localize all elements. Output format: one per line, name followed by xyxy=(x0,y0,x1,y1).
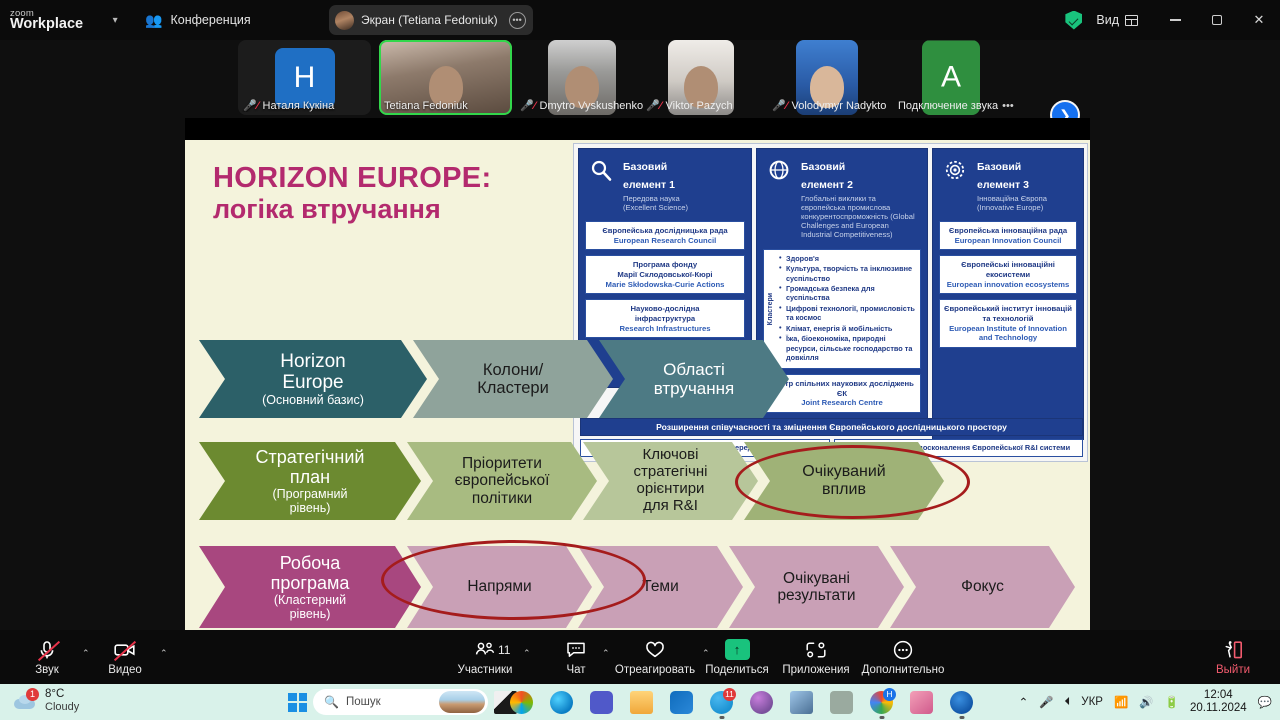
participant-thumbnail[interactable]: H 🎤⁄ Наталя Кукіна xyxy=(238,40,371,115)
teams-icon[interactable] xyxy=(590,691,613,714)
chat-label: Чат xyxy=(566,664,585,676)
telegram-icon[interactable]: 11 xyxy=(710,691,733,714)
box-en: Joint Research Centre xyxy=(767,398,917,408)
box-en: European Innovation Council xyxy=(943,236,1073,246)
participants-label: Участники xyxy=(458,664,513,676)
magnifier-icon xyxy=(586,157,616,212)
cluster-item: Громадська безпека для суспільства xyxy=(779,284,915,303)
taskbar-center: 🔍 Пошук xyxy=(288,684,517,720)
annotation-ellipse-destinations xyxy=(381,540,646,620)
chatgpt-icon[interactable] xyxy=(830,691,853,714)
pillar-2-title: Базовий елемент 2 xyxy=(801,161,853,191)
camera-muted-icon xyxy=(114,639,136,661)
pillar-3-header: Базовий елемент 3 Інноваційна Європа (In… xyxy=(933,149,1083,216)
windows-taskbar: 1 8°C Cloudy 🔍 Пошук 11 xyxy=(0,684,1280,720)
cloud-icon: 1 xyxy=(12,690,38,712)
box-en: Research Infrastructures xyxy=(589,324,741,334)
participant-name-row: 🎤⁄ Наталя Кукіна xyxy=(238,99,371,112)
chevron-key-strategic-orientations: Ключові стратегічні орієнтири для R&I xyxy=(583,442,758,520)
muted-mic-icon: 🎤⁄ xyxy=(520,99,536,112)
more-label: Дополнительно xyxy=(862,664,945,676)
weather-widget[interactable]: 1 8°C Cloudy xyxy=(12,688,79,714)
gear-innovation-icon xyxy=(940,157,970,212)
zoom-logo: zoom Workplace xyxy=(10,9,83,32)
battery-icon[interactable]: 🔋 xyxy=(1165,695,1179,709)
chevron-scope: Фокус xyxy=(890,546,1075,628)
box-en: European Research Council xyxy=(589,236,741,246)
participants-icon xyxy=(474,639,496,661)
meeting-toolbar: Звук ⌃ Видео ⌃ Участники 11 ⌃ Чат ⌃ xyxy=(0,630,1280,684)
search-icon: 🔍 xyxy=(324,695,339,709)
pillar-2-clusters: Кластери Здоров'я Культура, творчість та… xyxy=(763,249,921,369)
close-button[interactable]: ✕ xyxy=(1238,0,1280,40)
chevron-strategic-plan: Стратегічний план (Програмний рівень) xyxy=(199,442,421,520)
participant-name-row: Tetiana Fedoniuk xyxy=(379,100,512,112)
view-label: Вид xyxy=(1096,13,1119,27)
presentation-slide: HORIZON EUROPE: логіка втручання Базовий… xyxy=(185,140,1090,630)
zoom-taskbar-icon[interactable] xyxy=(950,691,973,714)
participant-thumbnail-active[interactable]: Tetiana Fedoniuk xyxy=(379,40,512,115)
more-dots-icon xyxy=(892,639,914,661)
minimize-button[interactable] xyxy=(1154,0,1196,40)
chevron-label: Фокус xyxy=(961,578,1004,595)
search-placeholder: Пошук xyxy=(346,696,381,708)
pillar-2-subtitle: Глобальні виклики та європейська промисл… xyxy=(801,194,920,240)
share-button[interactable]: ↑ Поделиться xyxy=(700,630,774,684)
slide-title-line2: логіка втручання xyxy=(213,194,491,224)
cluster-item: Клімат, енергія й мобільність xyxy=(779,324,915,333)
more-options-icon[interactable]: ••• xyxy=(1002,100,1014,112)
window-controls-group: Вид ✕ xyxy=(1065,0,1280,40)
participant-name: Tetiana Fedoniuk xyxy=(384,100,468,112)
box-ua: Європейський інститут інновацій та техно… xyxy=(943,304,1073,323)
chevron-label: Стратегічний план xyxy=(256,447,365,487)
pillar-1-box: Європейська дослідницька рада European R… xyxy=(585,221,745,250)
mic-tray-icon[interactable]: 🎤 xyxy=(1039,695,1053,709)
volume-icon[interactable]: 🔊 xyxy=(1139,695,1153,709)
box-ua: Програма фонду Марії Склодовської-Кюрі xyxy=(589,260,741,279)
more-button[interactable]: Дополнительно xyxy=(858,630,948,684)
chevron-label: Колони/ Кластери xyxy=(477,361,549,398)
edge-icon[interactable] xyxy=(550,691,573,714)
pillar-1-header: Базовий елемент 1 Передова наука (Excell… xyxy=(579,149,751,216)
system-tray: ⌃ 🎤 ⏴ УКР 📶 🔊 🔋 12:04 20.11.2024 💬 xyxy=(1019,684,1272,720)
participants-caret-icon[interactable]: ⌃ xyxy=(523,648,531,659)
cluster-item: Цифрові технології, промисловість та кос… xyxy=(779,304,915,323)
pillar-1-box: Науково-дослідна інфраструктура Research… xyxy=(585,299,745,338)
pillar-1-title: Базовий елемент 1 xyxy=(623,161,675,191)
page-title: HORIZON EUROPE: логіка втручання xyxy=(213,162,491,225)
maximize-button[interactable] xyxy=(1196,0,1238,40)
participant-name-row: 🎤⁄ Dmytro Vyskushenko xyxy=(520,99,643,112)
chevron-down-icon[interactable]: ▾ xyxy=(105,10,125,30)
muted-mic-icon: 🎤⁄ xyxy=(772,99,788,112)
pillar-3-subtitle: Інноваційна Європа (Innovative Europe) xyxy=(977,194,1047,212)
video-options-caret-icon[interactable]: ⌃ xyxy=(160,648,168,659)
zoom-meeting-window: zoom Workplace ▾ 👥 Конференция Экран (Te… xyxy=(0,0,1280,720)
chevron-horizon-europe: Horizon Europe (Основний базис) xyxy=(199,340,427,418)
participant-thumbnail[interactable]: 🎤⁄ Volodymyr Nadykto xyxy=(772,40,890,115)
notification-center-icon[interactable]: 💬 xyxy=(1258,695,1272,709)
chevron-label: Області втручання xyxy=(654,360,735,398)
telegram-badge: 11 xyxy=(723,688,736,701)
chevron-label: Очікувані результати xyxy=(777,570,855,605)
pillar-3-title: Базовий елемент 3 xyxy=(977,161,1029,191)
grid-view-icon xyxy=(1125,15,1138,26)
pillar-1-subtitle: Передова наука (Excellent Science) xyxy=(623,194,688,212)
zoom-brand-line2: Workplace xyxy=(10,17,83,32)
leave-button[interactable]: Выйти xyxy=(1205,630,1261,684)
box-en: European innovation ecosystems xyxy=(943,280,1073,290)
chevron-label: Ключові стратегічні орієнтири для R&I xyxy=(633,447,707,514)
pillar-3-box: Європейська інноваційна рада European In… xyxy=(939,221,1077,250)
language-indicator[interactable]: УКР xyxy=(1081,696,1103,708)
chevron-label: Horizon Europe xyxy=(280,351,345,394)
pillar-3-box: Європейський інститут інновацій та техно… xyxy=(939,299,1077,348)
globe-icon xyxy=(764,157,794,240)
pillar-3: Базовий елемент 3 Інноваційна Європа (In… xyxy=(932,148,1084,440)
chrome-badge: H xyxy=(883,688,896,701)
search-illustration xyxy=(439,691,485,713)
pillar-1-box: Програма фонду Марії Склодовської-Кюрі M… xyxy=(585,255,745,294)
audio-options-caret-icon[interactable]: ⌃ xyxy=(82,648,90,659)
chevron-intervention-areas: Області втручання xyxy=(599,340,789,418)
viber-icon[interactable] xyxy=(750,691,773,714)
meeting-tab-label: Конференция xyxy=(171,13,251,27)
participant-name: Viktor Pazych xyxy=(666,100,733,112)
box-en: European Institute of Innovation and Tec… xyxy=(943,324,1073,343)
react-button[interactable]: Отреагировать xyxy=(612,630,698,684)
video-button[interactable]: Видео xyxy=(96,630,154,684)
box-ua: Європейська інноваційна рада xyxy=(943,226,1073,236)
muted-mic-icon: 🎤⁄ xyxy=(646,99,662,112)
chat-icon xyxy=(566,639,586,661)
shared-screen-stage: HORIZON EUROPE: логіка втручання Базовий… xyxy=(185,118,1090,630)
security-shield-icon[interactable] xyxy=(1065,11,1082,30)
share-screen-icon: ↑ xyxy=(725,639,750,661)
clusters-list: Здоров'я Культура, творчість та інклюзив… xyxy=(778,254,917,364)
chat-button[interactable]: Чат xyxy=(551,630,601,684)
participant-thumbnail[interactable]: 🎤⁄ Dmytro Vyskushenko xyxy=(520,40,638,115)
weather-temperature: 8°C xyxy=(45,688,79,701)
box-en: Marie Skłodowska-Curie Actions xyxy=(589,280,741,290)
chevron-sub: (Основний базис) xyxy=(262,393,364,407)
chevron-expected-outcomes: Очікувані результати xyxy=(729,546,904,628)
file-explorer-icon[interactable] xyxy=(630,691,653,714)
wifi-icon[interactable]: 📶 xyxy=(1114,695,1128,709)
participant-name-row: 🎤⁄ Viktor Pazych xyxy=(646,99,733,112)
chevron-label: Пріоритети європейської політики xyxy=(455,455,550,507)
chevron-sub: (Кластерний рівень) xyxy=(274,593,346,621)
apps-button[interactable]: Приложения xyxy=(778,630,854,684)
video-label: Видео xyxy=(108,664,142,676)
widening-banner: Розширення співучасності та зміцнення Єв… xyxy=(580,418,1083,436)
chat-caret-icon[interactable]: ⌃ xyxy=(602,648,610,659)
meeting-tab[interactable]: 👥 Конференция xyxy=(145,13,251,27)
weather-condition: Cloudy xyxy=(45,701,79,714)
view-button[interactable]: Вид xyxy=(1096,13,1138,27)
search-input[interactable]: 🔍 Пошук xyxy=(313,689,488,715)
audio-connection-thumbnail[interactable]: A Подключение звука ••• xyxy=(898,40,1016,115)
share-label: Поделиться xyxy=(705,664,769,676)
clock-time: 12:04 xyxy=(1190,689,1247,702)
participant-name: Dmytro Vyskushenko xyxy=(540,100,644,112)
apps-icon xyxy=(805,639,827,661)
apps-label: Приложения xyxy=(782,664,849,676)
copilot-icon[interactable] xyxy=(510,691,533,714)
leave-label: Выйти xyxy=(1216,664,1250,676)
participant-name: Volodymyr Nadykto xyxy=(792,100,887,112)
clock[interactable]: 12:04 20.11.2024 xyxy=(1190,689,1247,715)
heart-icon xyxy=(645,639,665,661)
chevron-eu-policy-priorities: Пріоритети європейської політики xyxy=(407,442,597,520)
pillar-3-box: Європейські інноваційні екосистеми Europ… xyxy=(939,255,1077,294)
muted-mic-icon: 🎤⁄ xyxy=(243,99,259,112)
thumbnail-list: H 🎤⁄ Наталя Кукіна Tetiana Fedoniuk 🎤⁄ xyxy=(238,40,1016,115)
leave-icon xyxy=(1222,639,1244,661)
notification-badge: 1 xyxy=(26,688,39,701)
remote-desktop-icon[interactable] xyxy=(790,691,813,714)
chrome-icon[interactable]: H xyxy=(870,691,893,714)
participants-count: 11 xyxy=(498,643,510,657)
audio-label: Звук xyxy=(35,664,59,676)
tray-expand-icon[interactable]: ⌃ xyxy=(1019,695,1029,709)
chevron-label: Робоча програма xyxy=(271,553,350,593)
slide-title-line1: HORIZON EUROPE: xyxy=(213,162,491,194)
box-ua: Європейські інноваційні екосистеми xyxy=(943,260,1073,279)
participant-thumbnail[interactable]: 🎤⁄ Viktor Pazych xyxy=(646,40,764,115)
pillar-2-header: Базовий елемент 2 Глобальні виклики та є… xyxy=(757,149,927,244)
share-label: Экран (Tetiana Fedoniuk) xyxy=(361,13,498,27)
cluster-item: Їжа, біоекономіка, природні ресурси, сіл… xyxy=(779,334,915,362)
people-icon: 👥 xyxy=(145,13,162,27)
box-ua: Науково-дослідна інфраструктура xyxy=(589,304,741,323)
snipping-tool-icon[interactable] xyxy=(910,691,933,714)
microphone-muted-icon xyxy=(38,639,56,661)
participant-name-row: Подключение звука ••• xyxy=(898,100,1014,112)
chevron-pillars-clusters: Колони/ Кластери xyxy=(413,340,613,418)
annotation-ellipse-expected-impact xyxy=(735,445,970,519)
taskbar-app-icons: 11 H xyxy=(510,684,973,720)
avatar xyxy=(335,11,354,30)
box-ua: Європейська дослідницька рада xyxy=(589,226,741,236)
location-icon[interactable]: ⏴ xyxy=(1065,696,1071,709)
participant-name: Наталя Кукіна xyxy=(263,100,335,112)
more-options-icon[interactable]: ••• xyxy=(509,12,526,29)
cluster-item: Культура, творчість та інклюзивне суспіл… xyxy=(779,264,915,283)
cluster-item: Здоров'я xyxy=(779,254,915,263)
participant-filmstrip: H 🎤⁄ Наталя Кукіна Tetiana Fedoniuk 🎤⁄ xyxy=(0,40,1280,118)
box-ua: Центр спільних наукових досліджень ЄК xyxy=(767,379,917,398)
clock-date: 20.11.2024 xyxy=(1190,702,1247,715)
react-label: Отреагировать xyxy=(615,664,695,676)
screen-share-indicator[interactable]: Экран (Tetiana Fedoniuk) ••• xyxy=(329,5,533,35)
outlook-icon[interactable] xyxy=(670,691,693,714)
participant-name: Подключение звука xyxy=(898,100,998,112)
participant-name-row: 🎤⁄ Volodymyr Nadykto xyxy=(772,99,886,112)
zoom-title-bar: zoom Workplace ▾ 👥 Конференция Экран (Te… xyxy=(0,0,1280,40)
participants-button[interactable]: Участники xyxy=(455,630,515,684)
pillars-row: Horizon Europe (Основний базис) Колони/ … xyxy=(199,340,775,418)
audio-button[interactable]: Звук xyxy=(18,630,76,684)
chevron-label: Теми xyxy=(642,578,679,595)
chevron-sub: (Програмний рівень) xyxy=(273,487,348,515)
windows-start-icon[interactable] xyxy=(288,693,307,712)
